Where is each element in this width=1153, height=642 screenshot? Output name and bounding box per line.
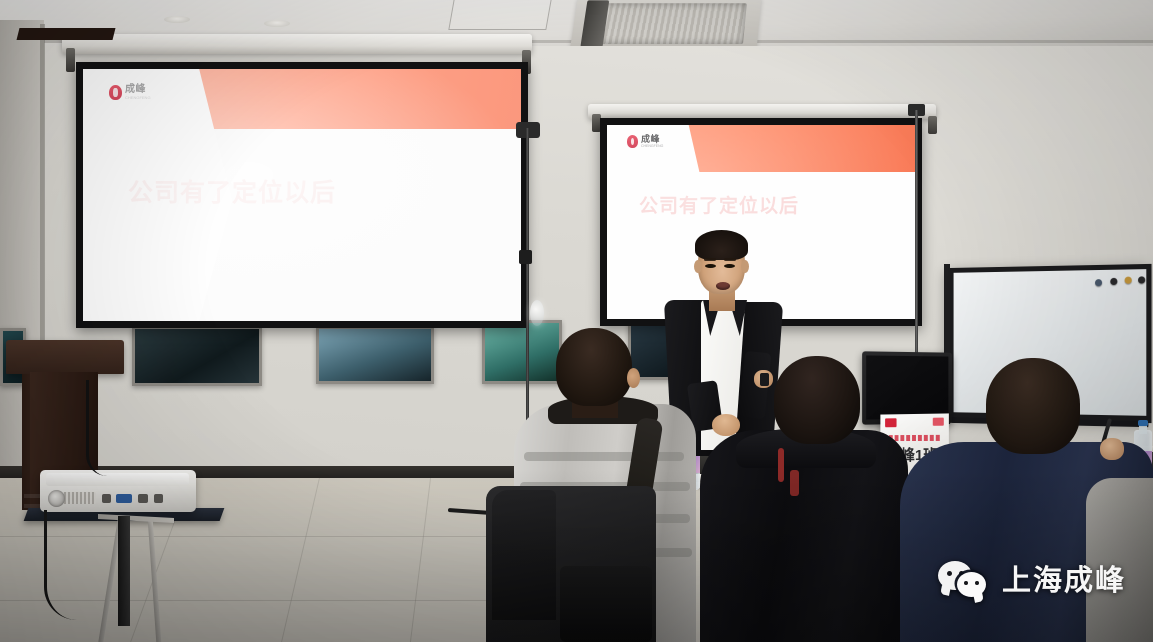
attendee-4-torso bbox=[1086, 478, 1153, 642]
wechat-watermark: 上海成峰 bbox=[938, 561, 1126, 601]
ceiling-access-panel bbox=[448, 0, 553, 30]
wechat-icon bbox=[938, 561, 990, 601]
presenter-eye bbox=[705, 264, 716, 268]
projection-screen-right: 成峰 CHENGFENG 公司有了定位以后 bbox=[600, 118, 922, 326]
projection-screen-surface-right: 成峰 CHENGFENG 公司有了定位以后 bbox=[607, 125, 915, 319]
wechat-eye bbox=[947, 571, 952, 576]
ac-unit-grille bbox=[587, 3, 747, 44]
placard-badge bbox=[885, 418, 896, 427]
presentation-clicker[interactable] bbox=[760, 373, 769, 386]
attendee-3-head bbox=[986, 358, 1080, 454]
presenter-brow bbox=[724, 258, 736, 261]
presenter-brow bbox=[704, 258, 716, 261]
projector-lens bbox=[48, 490, 65, 507]
slide-logo-left: 成峰 CHENGFENG bbox=[109, 85, 151, 100]
wechat-eye bbox=[964, 581, 968, 585]
floor-tile-line bbox=[0, 600, 520, 601]
slide-title-right: 公司有了定位以后 bbox=[639, 191, 799, 218]
projection-screen-surface-left: 成峰 CHENGFENG 公司有了定位以后 bbox=[83, 69, 521, 321]
projector-port bbox=[102, 494, 111, 503]
screen-bracket bbox=[928, 116, 937, 134]
slide-logo-right: 成峰 CHENGFENG bbox=[627, 135, 663, 149]
attendee-2-zipper bbox=[778, 448, 784, 482]
whiteboard-magnet[interactable] bbox=[1095, 279, 1102, 286]
slide-logo-subtext: CHENGFENG bbox=[125, 96, 151, 100]
presenter-hair bbox=[695, 230, 748, 260]
ac-unit bbox=[570, 0, 762, 50]
brand-mark-icon bbox=[627, 135, 638, 148]
projection-screen-housing-left bbox=[62, 34, 532, 54]
stand-diffuser bbox=[530, 300, 544, 326]
attendee-1-head bbox=[556, 328, 632, 406]
slide-left: 成峰 CHENGFENG 公司有了定位以后 bbox=[83, 69, 521, 321]
presenter-eye bbox=[724, 264, 735, 268]
attendee-1-ear bbox=[627, 368, 640, 388]
podium-top-face bbox=[17, 28, 116, 40]
projection-screen-housing-right bbox=[588, 104, 936, 119]
slide-title-left: 公司有了定位以后 bbox=[128, 173, 336, 209]
placard-badge bbox=[933, 418, 944, 426]
attendee-2-head bbox=[774, 356, 860, 444]
brand-mark-icon bbox=[109, 85, 122, 100]
attendee-3-hand bbox=[1100, 438, 1124, 460]
wall-poster bbox=[132, 326, 262, 386]
stand-clamp bbox=[519, 250, 532, 264]
projector-top-panel bbox=[46, 473, 189, 486]
slide-logo-text: 成峰 bbox=[641, 135, 663, 144]
downlight bbox=[264, 20, 290, 27]
presenter-mouth bbox=[716, 282, 730, 290]
monitor-screen bbox=[866, 355, 948, 419]
podium-top bbox=[6, 340, 124, 374]
presentation-room-photo: 成峰 CHENGFENG 公司有了定位以后 成峰 CHENGFENG bbox=[0, 0, 1153, 642]
slide-logo-subtext: CHENGFENG bbox=[641, 145, 663, 149]
podium-cable bbox=[86, 380, 107, 476]
projection-screen-left: 成峰 CHENGFENG 公司有了定位以后 bbox=[76, 62, 528, 328]
projector-vga-port bbox=[116, 494, 132, 503]
bottle-cap bbox=[1138, 420, 1148, 426]
placard-subtitle bbox=[889, 435, 940, 441]
wechat-eye bbox=[975, 581, 979, 585]
projector-port bbox=[138, 494, 148, 503]
wall-poster bbox=[316, 326, 434, 384]
wechat-bubble-small bbox=[957, 572, 986, 597]
slide-logo-text: 成峰 bbox=[125, 85, 151, 95]
watermark-text: 上海成峰 bbox=[1002, 567, 1126, 596]
projector-cable bbox=[44, 510, 77, 620]
chair-backrest bbox=[560, 566, 652, 642]
floor-tile-line bbox=[0, 536, 560, 537]
attendee-2-zipper bbox=[790, 470, 799, 496]
projector bbox=[40, 470, 196, 512]
presenter-ear bbox=[741, 260, 749, 273]
presenter-ear bbox=[694, 260, 702, 273]
downlight bbox=[164, 16, 190, 23]
screen-bracket bbox=[66, 48, 75, 72]
slide-right: 成峰 CHENGFENG 公司有了定位以后 bbox=[607, 125, 915, 319]
wall-poster bbox=[482, 320, 562, 384]
projector-stand-column bbox=[118, 516, 130, 626]
projector-port bbox=[154, 494, 163, 503]
chair-armrest[interactable] bbox=[492, 490, 556, 620]
shirt-stripe bbox=[524, 452, 684, 461]
